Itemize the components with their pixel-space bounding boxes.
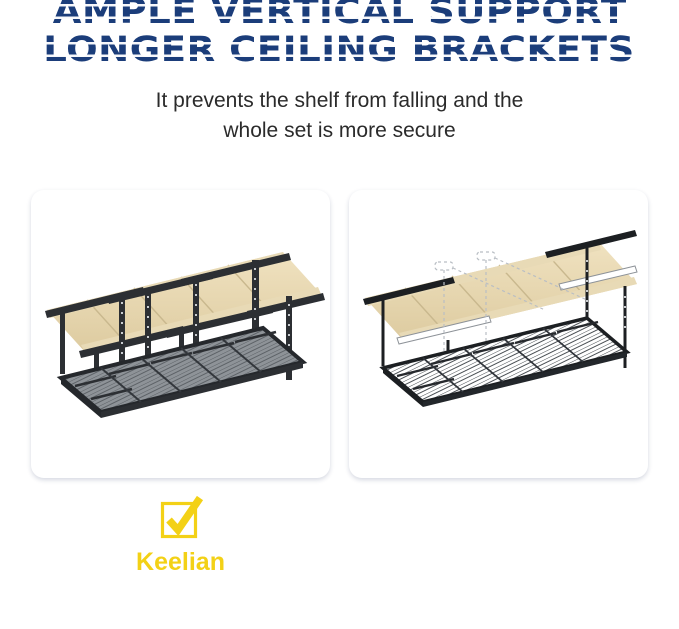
product-photo-keelian	[31, 190, 330, 478]
product-card-others	[349, 190, 648, 478]
product-card-keelian	[31, 190, 330, 478]
promo-banner: AMPLE VERTICAL SUPPORT LONGER CEILING BR…	[0, 0, 679, 629]
product-photo-others	[349, 190, 648, 478]
cross-box-icon	[477, 494, 521, 540]
headline-line-1: AMPLE VERTICAL SUPPORT	[0, 0, 679, 30]
headline-line-2: LONGER CEILING BRACKETS	[0, 33, 679, 68]
check-box-icon	[159, 494, 203, 540]
verdict-label-others: Others	[349, 548, 648, 576]
headline-line-1-text: AMPLE VERTICAL SUPPORT	[53, 0, 627, 32]
subheading-line-2: whole set is more secure	[0, 116, 679, 146]
subheading-line-1: It prevents the shelf from falling and t…	[0, 86, 679, 116]
verdict-others: Others	[349, 494, 648, 576]
headline-line-2-text: LONGER CEILING BRACKETS	[44, 30, 636, 70]
subheading: It prevents the shelf from falling and t…	[0, 86, 679, 146]
verdict-label-keelian: Keelian	[31, 548, 330, 576]
verdict-keelian: Keelian	[31, 494, 330, 576]
